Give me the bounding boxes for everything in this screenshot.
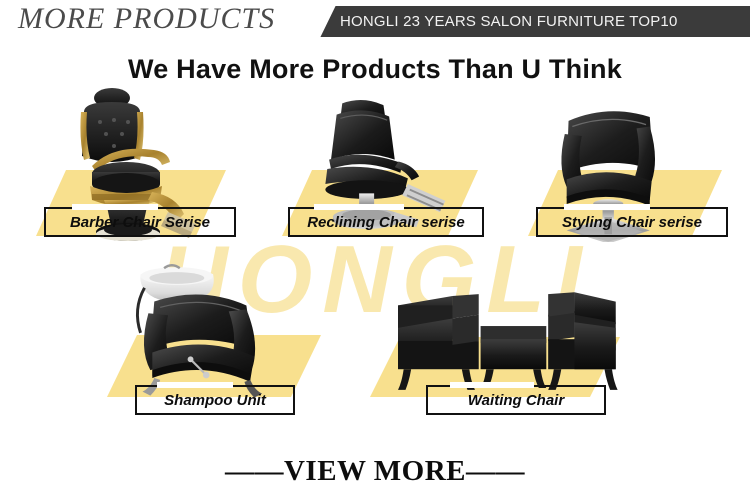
product-card-reclining-chair[interactable]: Reclining Chair serise bbox=[278, 82, 498, 262]
product-label-text: Waiting Chair bbox=[426, 385, 606, 415]
page-header: MORE PRODUCTS HONGLI 23 YEARS SALON FURN… bbox=[0, 0, 750, 42]
product-label-waiting-chair[interactable]: Waiting Chair bbox=[426, 385, 606, 415]
product-label-text: Styling Chair serise bbox=[536, 207, 728, 237]
banner-text: HONGLI 23 YEARS SALON FURNITURE TOP10 bbox=[340, 6, 678, 37]
product-label-text: Shampoo Unit bbox=[135, 385, 295, 415]
product-label-reclining-chair[interactable]: Reclining Chair serise bbox=[288, 207, 484, 237]
product-label-barber-chair[interactable]: Barber Chair Serise bbox=[44, 207, 236, 237]
view-more-button[interactable]: ——VIEW MORE—— bbox=[0, 455, 750, 488]
product-card-shampoo-unit[interactable]: Shampoo Unit bbox=[105, 257, 355, 437]
product-card-styling-chair[interactable]: Styling Chair serise bbox=[520, 82, 740, 262]
product-card-barber-chair[interactable]: Barber Chair Serise bbox=[30, 82, 250, 262]
product-label-shampoo-unit[interactable]: Shampoo Unit bbox=[135, 385, 295, 415]
page-title: We Have More Products Than U Think bbox=[0, 54, 750, 85]
product-label-styling-chair[interactable]: Styling Chair serise bbox=[536, 207, 728, 237]
product-showcase-page: MORE PRODUCTS HONGLI 23 YEARS SALON FURN… bbox=[0, 0, 750, 500]
product-label-text: Reclining Chair serise bbox=[288, 207, 484, 237]
brand-title: MORE PRODUCTS bbox=[18, 2, 275, 36]
product-card-waiting-chair[interactable]: Waiting Chair bbox=[370, 257, 670, 437]
product-label-text: Barber Chair Serise bbox=[44, 207, 236, 237]
shampoo-unit-image bbox=[119, 257, 315, 397]
product-grid: Barber Chair Serise bbox=[0, 82, 750, 452]
